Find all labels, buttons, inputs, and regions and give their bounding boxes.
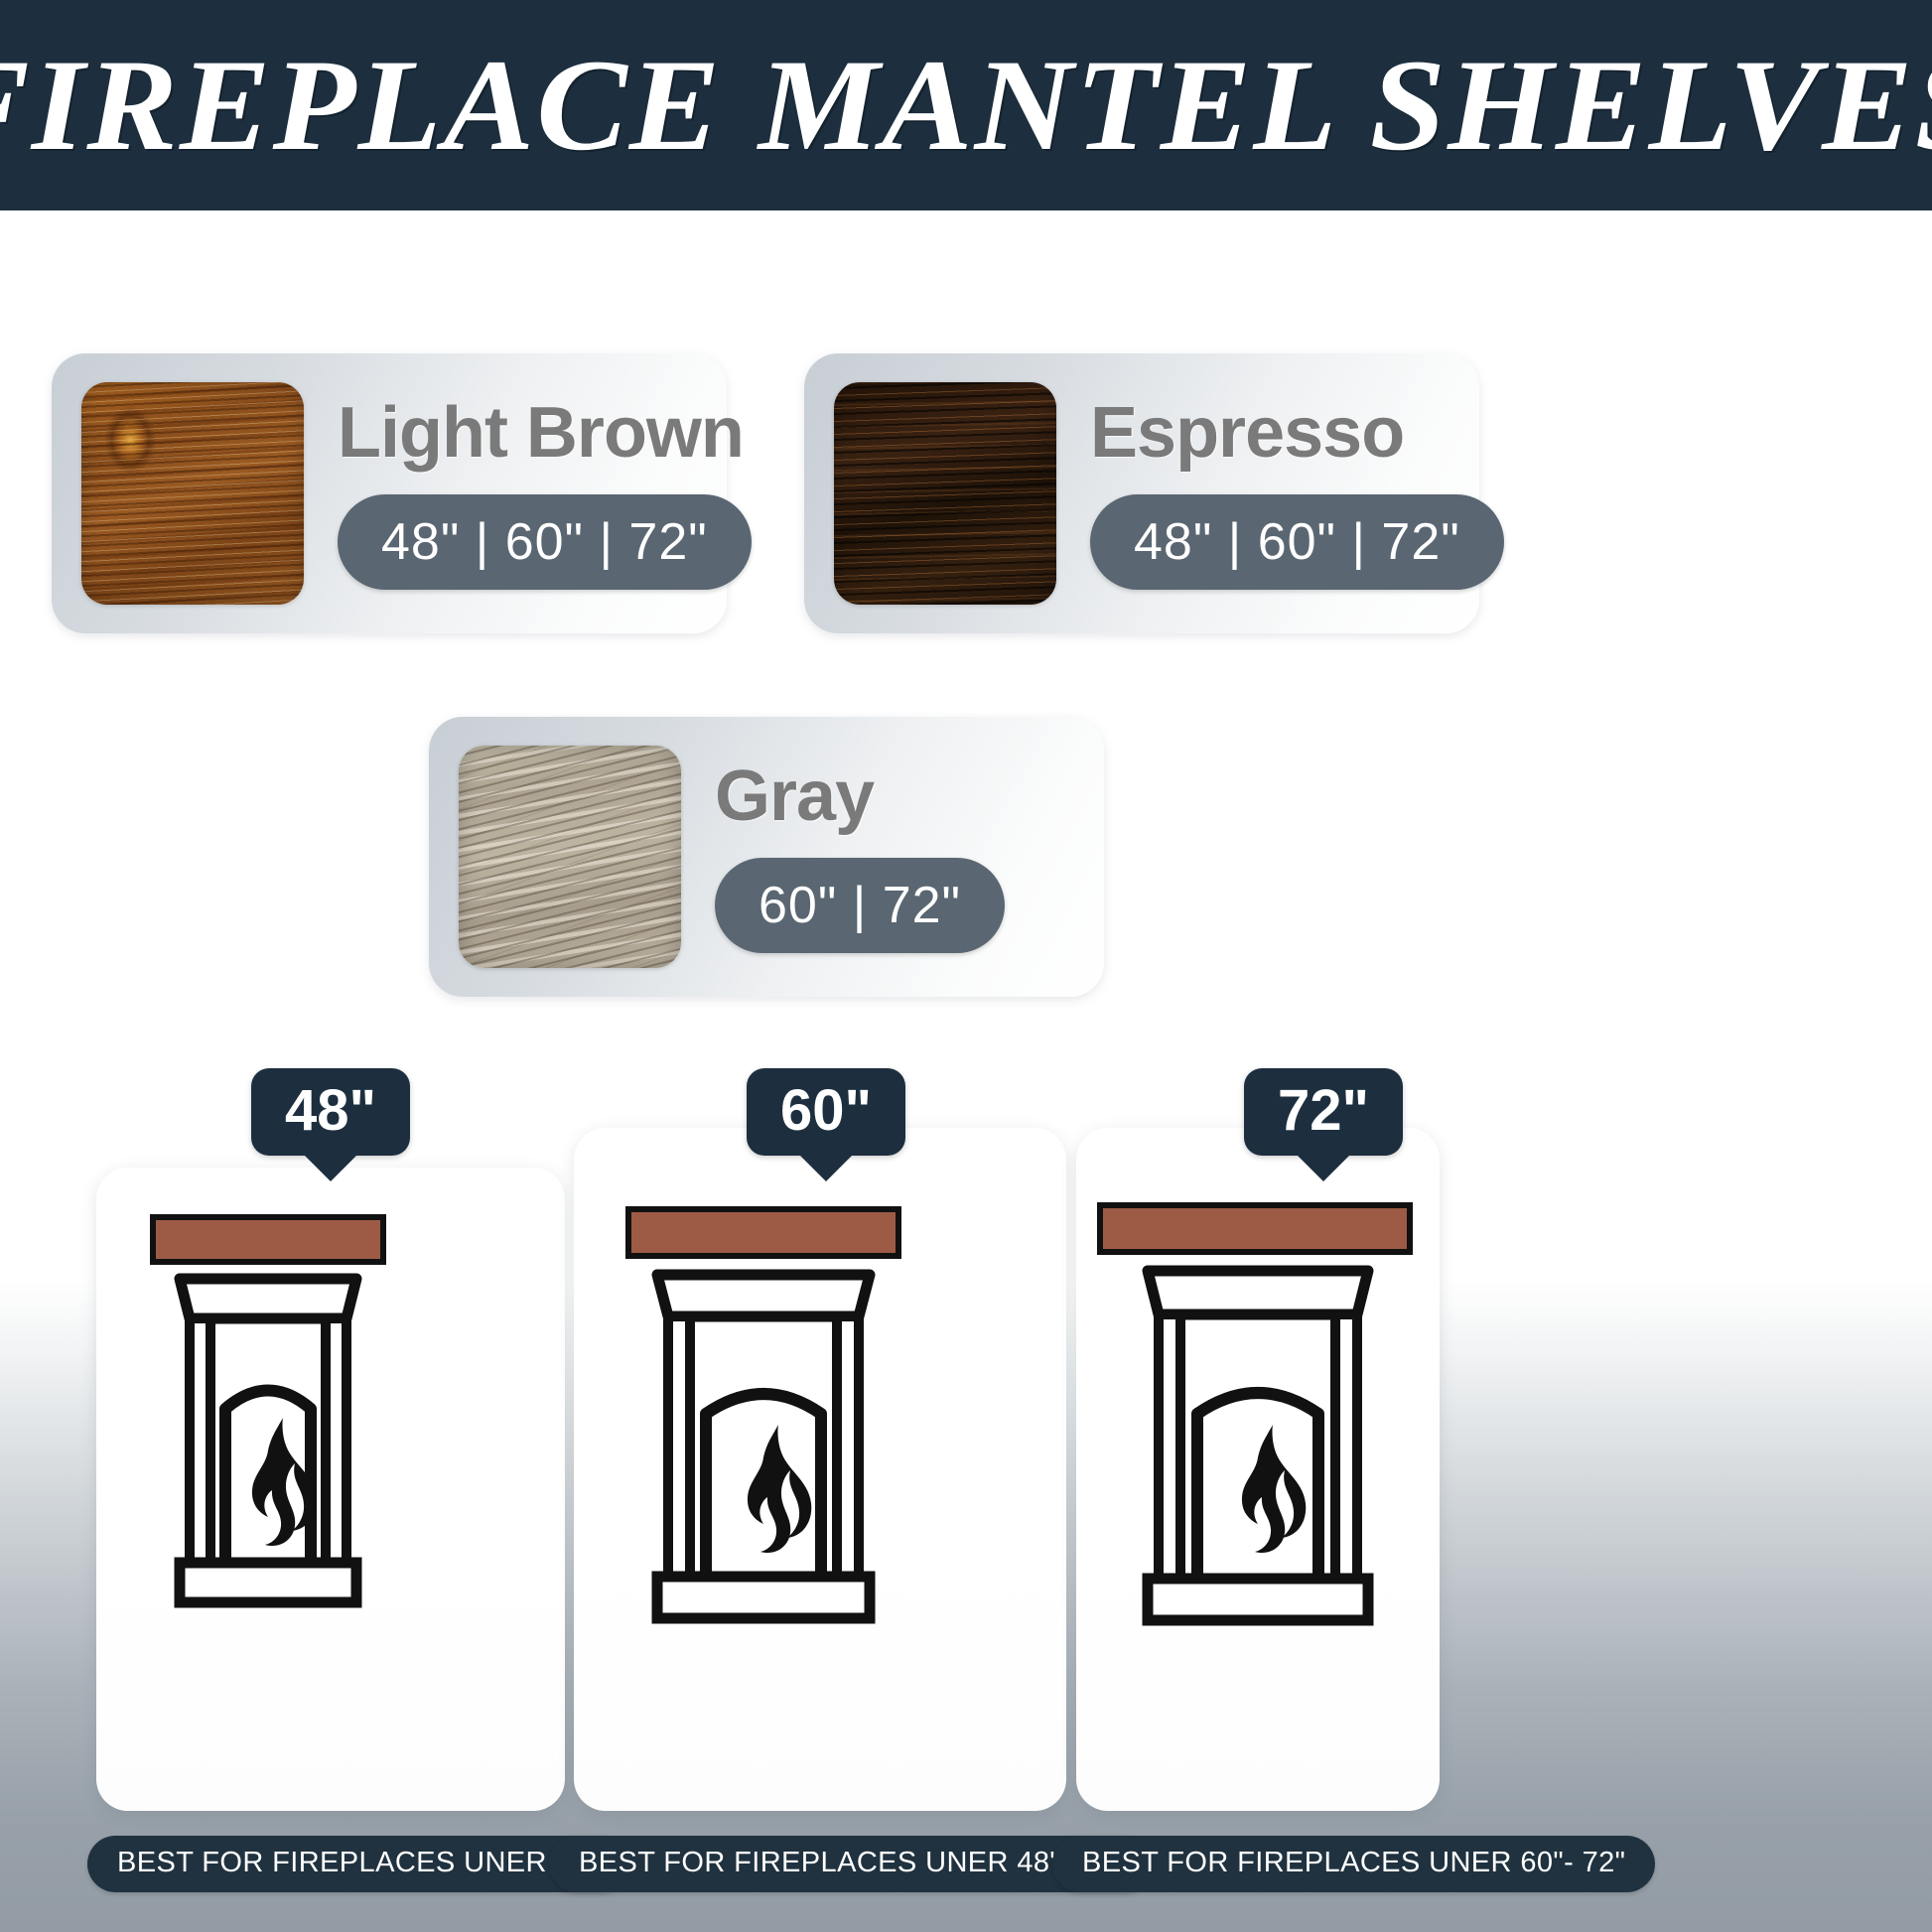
light-brown-wood-swatch bbox=[81, 382, 304, 605]
size-tag-72: 72" bbox=[1244, 1068, 1403, 1156]
size-tag-48: 48" bbox=[251, 1068, 410, 1156]
color-card-gray[interactable]: Gray 60" | 72" bbox=[429, 717, 1104, 997]
color-name-label: Gray bbox=[715, 760, 1005, 832]
color-name-label: Light Brown bbox=[338, 397, 752, 469]
gray-wood-swatch bbox=[459, 746, 681, 968]
fireplace-caption-48: BEST FOR FIREPLACES UNER 48" bbox=[87, 1836, 628, 1892]
page-header: FIREPLACE MANTEL SHELVES bbox=[0, 0, 1932, 210]
color-card-body: Espresso 48" | 60" | 72" bbox=[1090, 397, 1504, 590]
color-card-body: Gray 60" | 72" bbox=[715, 760, 1005, 953]
color-card-light-brown[interactable]: Light Brown 48" | 60" | 72" bbox=[52, 353, 727, 633]
fireplace-icon bbox=[574, 1128, 1066, 1811]
fireplace-caption-72: BEST FOR FIREPLACES UNER 60"- 72" bbox=[1052, 1836, 1655, 1892]
page-title: FIREPLACE MANTEL SHELVES bbox=[0, 40, 1932, 171]
infographic-page: FIREPLACE MANTEL SHELVES Light Brown 48"… bbox=[0, 0, 1932, 1932]
fireplace-icon bbox=[1076, 1128, 1440, 1811]
color-card-espresso[interactable]: Espresso 48" | 60" | 72" bbox=[804, 353, 1479, 633]
color-card-body: Light Brown 48" | 60" | 72" bbox=[338, 397, 752, 590]
fireplace-icon bbox=[96, 1168, 565, 1811]
size-options-pill[interactable]: 60" | 72" bbox=[715, 858, 1005, 953]
color-name-label: Espresso bbox=[1090, 397, 1504, 469]
size-options-pill[interactable]: 48" | 60" | 72" bbox=[1090, 494, 1504, 590]
espresso-wood-swatch bbox=[834, 382, 1056, 605]
size-tag-60: 60" bbox=[747, 1068, 905, 1156]
size-options-pill[interactable]: 48" | 60" | 72" bbox=[338, 494, 752, 590]
